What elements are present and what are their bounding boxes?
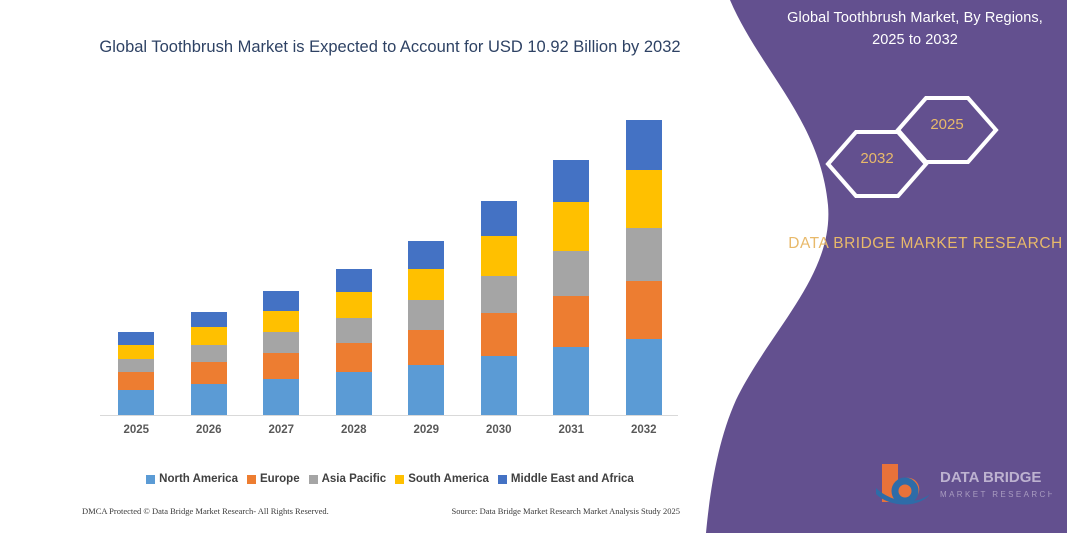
legend-swatch-icon xyxy=(498,475,507,484)
brand-panel xyxy=(700,0,1067,533)
segment-middle-east-and-africa xyxy=(481,201,517,236)
segment-middle-east-and-africa xyxy=(553,160,589,202)
legend-swatch-icon xyxy=(395,475,404,484)
panel-header: Global Toothbrush Market, By Regions, 20… xyxy=(770,8,1060,52)
segment-north-america xyxy=(336,372,372,416)
chart-title: Global Toothbrush Market is Expected to … xyxy=(95,36,685,60)
segment-south-america xyxy=(553,202,589,251)
segment-asia-pacific xyxy=(553,251,589,296)
legend-label: North America xyxy=(159,473,238,485)
legend-label: Asia Pacific xyxy=(322,473,387,485)
segment-middle-east-and-africa xyxy=(626,120,662,170)
segment-asia-pacific xyxy=(408,300,444,330)
x-label-2028: 2028 xyxy=(318,424,391,436)
segment-asia-pacific xyxy=(336,318,372,342)
segment-south-america xyxy=(626,170,662,228)
segment-middle-east-and-africa xyxy=(191,312,227,327)
segment-europe xyxy=(626,281,662,339)
bar-2025 xyxy=(118,332,154,416)
segment-asia-pacific xyxy=(481,276,517,313)
legend-item-middle-east-and-africa[interactable]: Middle East and Africa xyxy=(498,473,634,485)
x-axis-line xyxy=(100,415,678,416)
bar-2032 xyxy=(626,120,662,416)
footer-source: Source: Data Bridge Market Research Mark… xyxy=(451,506,680,516)
footer-copyright: DMCA Protected © Data Bridge Market Rese… xyxy=(82,506,329,516)
legend-swatch-icon xyxy=(146,475,155,484)
bar-2026 xyxy=(191,312,227,416)
legend-label: Europe xyxy=(260,473,300,485)
company-logo: DATA BRIDGE MARKET RESEARCH xyxy=(872,458,1052,510)
legend-item-south-america[interactable]: South America xyxy=(395,473,489,485)
legend-label: Middle East and Africa xyxy=(511,473,634,485)
x-label-2025: 2025 xyxy=(100,424,173,436)
x-label-2027: 2027 xyxy=(245,424,318,436)
segment-north-america xyxy=(408,365,444,416)
hexagon-2032-label: 2032 xyxy=(828,150,926,167)
segment-south-america xyxy=(481,236,517,276)
logo-secondary-text: MARKET RESEARCH xyxy=(940,490,1052,499)
segment-north-america xyxy=(626,339,662,416)
segment-europe xyxy=(408,330,444,365)
bar-2030 xyxy=(481,201,517,416)
segment-north-america xyxy=(553,347,589,416)
bar-2031 xyxy=(553,160,589,416)
hexagon-2025-label: 2025 xyxy=(898,116,996,133)
x-label-2029: 2029 xyxy=(390,424,463,436)
segment-asia-pacific xyxy=(118,359,154,372)
segment-middle-east-and-africa xyxy=(263,291,299,310)
segment-europe xyxy=(553,296,589,346)
segment-europe xyxy=(118,372,154,390)
segment-south-america xyxy=(336,292,372,318)
segment-south-america xyxy=(263,311,299,333)
logo-primary-text: DATA BRIDGE xyxy=(940,469,1041,486)
legend-item-europe[interactable]: Europe xyxy=(247,473,300,485)
segment-south-america xyxy=(408,269,444,300)
x-label-2026: 2026 xyxy=(173,424,246,436)
segment-middle-east-and-africa xyxy=(336,269,372,292)
bar-2027 xyxy=(263,291,299,416)
segment-middle-east-and-africa xyxy=(408,241,444,269)
segment-north-america xyxy=(263,379,299,416)
legend-label: South America xyxy=(408,473,489,485)
chart-legend: North AmericaEuropeAsia PacificSouth Ame… xyxy=(100,473,680,485)
bar-2028 xyxy=(336,269,372,416)
chart-plot-area xyxy=(100,120,680,416)
x-axis-labels: 20252026202720282029203020312032 xyxy=(100,424,680,444)
brand-name: DATA BRIDGE MARKET RESEARCH xyxy=(788,232,1063,256)
segment-europe xyxy=(481,313,517,355)
logo-mark xyxy=(876,464,930,505)
bar-2029 xyxy=(408,241,444,416)
legend-item-asia-pacific[interactable]: Asia Pacific xyxy=(309,473,387,485)
segment-south-america xyxy=(191,327,227,345)
segment-north-america xyxy=(118,390,154,416)
footer: DMCA Protected © Data Bridge Market Rese… xyxy=(82,506,680,516)
segment-europe xyxy=(191,362,227,384)
segment-europe xyxy=(336,343,372,373)
x-label-2030: 2030 xyxy=(463,424,536,436)
legend-swatch-icon xyxy=(309,475,318,484)
segment-asia-pacific xyxy=(191,345,227,362)
hexagon-year-badges: 2032 2025 xyxy=(812,88,1012,213)
segment-south-america xyxy=(118,345,154,359)
segment-asia-pacific xyxy=(263,332,299,353)
x-label-2032: 2032 xyxy=(608,424,681,436)
segment-europe xyxy=(263,353,299,379)
segment-north-america xyxy=(481,356,517,416)
legend-item-north-america[interactable]: North America xyxy=(146,473,238,485)
legend-swatch-icon xyxy=(247,475,256,484)
segment-asia-pacific xyxy=(626,228,662,281)
x-label-2031: 2031 xyxy=(535,424,608,436)
segment-middle-east-and-africa xyxy=(118,332,154,345)
segment-north-america xyxy=(191,384,227,416)
